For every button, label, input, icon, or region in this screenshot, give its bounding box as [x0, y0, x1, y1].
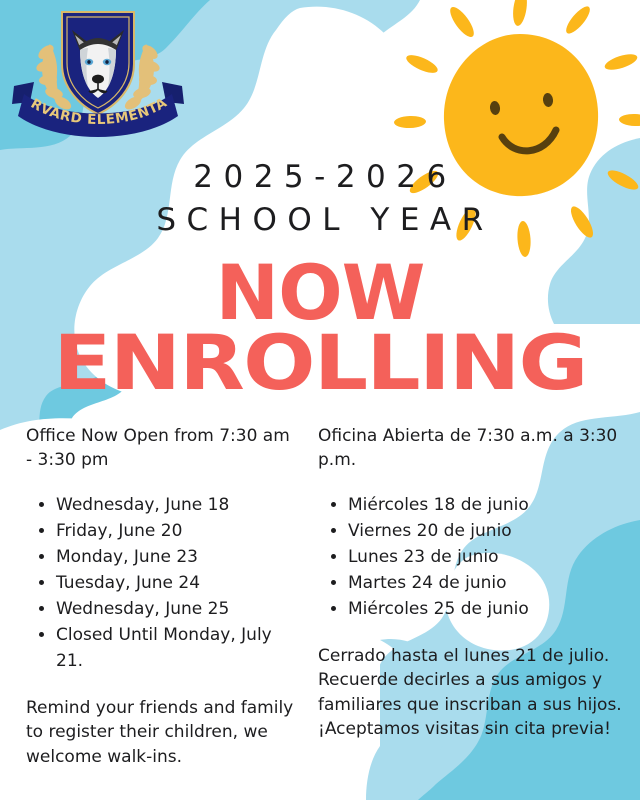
- list-item: Monday, June 23: [56, 544, 296, 570]
- headline-line-enrolling: ENROLLING: [0, 328, 640, 398]
- english-office-hours: Office Now Open from 7:30 am - 3:30 pm: [26, 424, 296, 472]
- list-item: Martes 24 de junio: [348, 570, 622, 596]
- list-item: Miércoles 18 de junio: [348, 492, 622, 518]
- list-item: Lunes 23 de junio: [348, 544, 622, 570]
- list-item: Tuesday, June 24: [56, 570, 296, 596]
- list-item: Wednesday, June 18: [56, 492, 296, 518]
- english-date-list: Wednesday, June 18 Friday, June 20 Monda…: [26, 492, 296, 674]
- spanish-office-hours: Oficina Abierta de 7:30 a.m. a 3:30 p.m.: [318, 424, 622, 472]
- list-item: Wednesday, June 25: [56, 596, 296, 622]
- list-item: Viernes 20 de junio: [348, 518, 622, 544]
- school-year-label: SCHOOL YEAR: [0, 198, 640, 243]
- list-item: Miércoles 25 de junio: [348, 596, 622, 622]
- enrollment-flyer: HARVARD ELEMENTARY: [0, 0, 640, 800]
- year-range: 2025-2026: [0, 158, 640, 198]
- list-item: Friday, June 20: [56, 518, 296, 544]
- spanish-closing-note: Cerrado hasta el lunes 21 de julio. Recu…: [318, 644, 622, 741]
- school-logo: HARVARD ELEMENTARY: [8, 2, 188, 142]
- english-closing-note: Remind your friends and family to regist…: [26, 696, 296, 768]
- info-columns: Office Now Open from 7:30 am - 3:30 pm W…: [0, 424, 640, 784]
- main-headline: NOW ENROLLING: [0, 258, 640, 398]
- husky-nose: [92, 75, 104, 84]
- spanish-date-list: Miércoles 18 de junio Viernes 20 de juni…: [318, 492, 622, 622]
- english-column: Office Now Open from 7:30 am - 3:30 pm W…: [0, 424, 310, 784]
- school-year-heading: 2025-2026 SCHOOL YEAR: [0, 158, 640, 243]
- list-item: Closed Until Monday, July 21.: [56, 622, 296, 674]
- spanish-column: Oficina Abierta de 7:30 a.m. a 3:30 p.m.…: [310, 424, 640, 784]
